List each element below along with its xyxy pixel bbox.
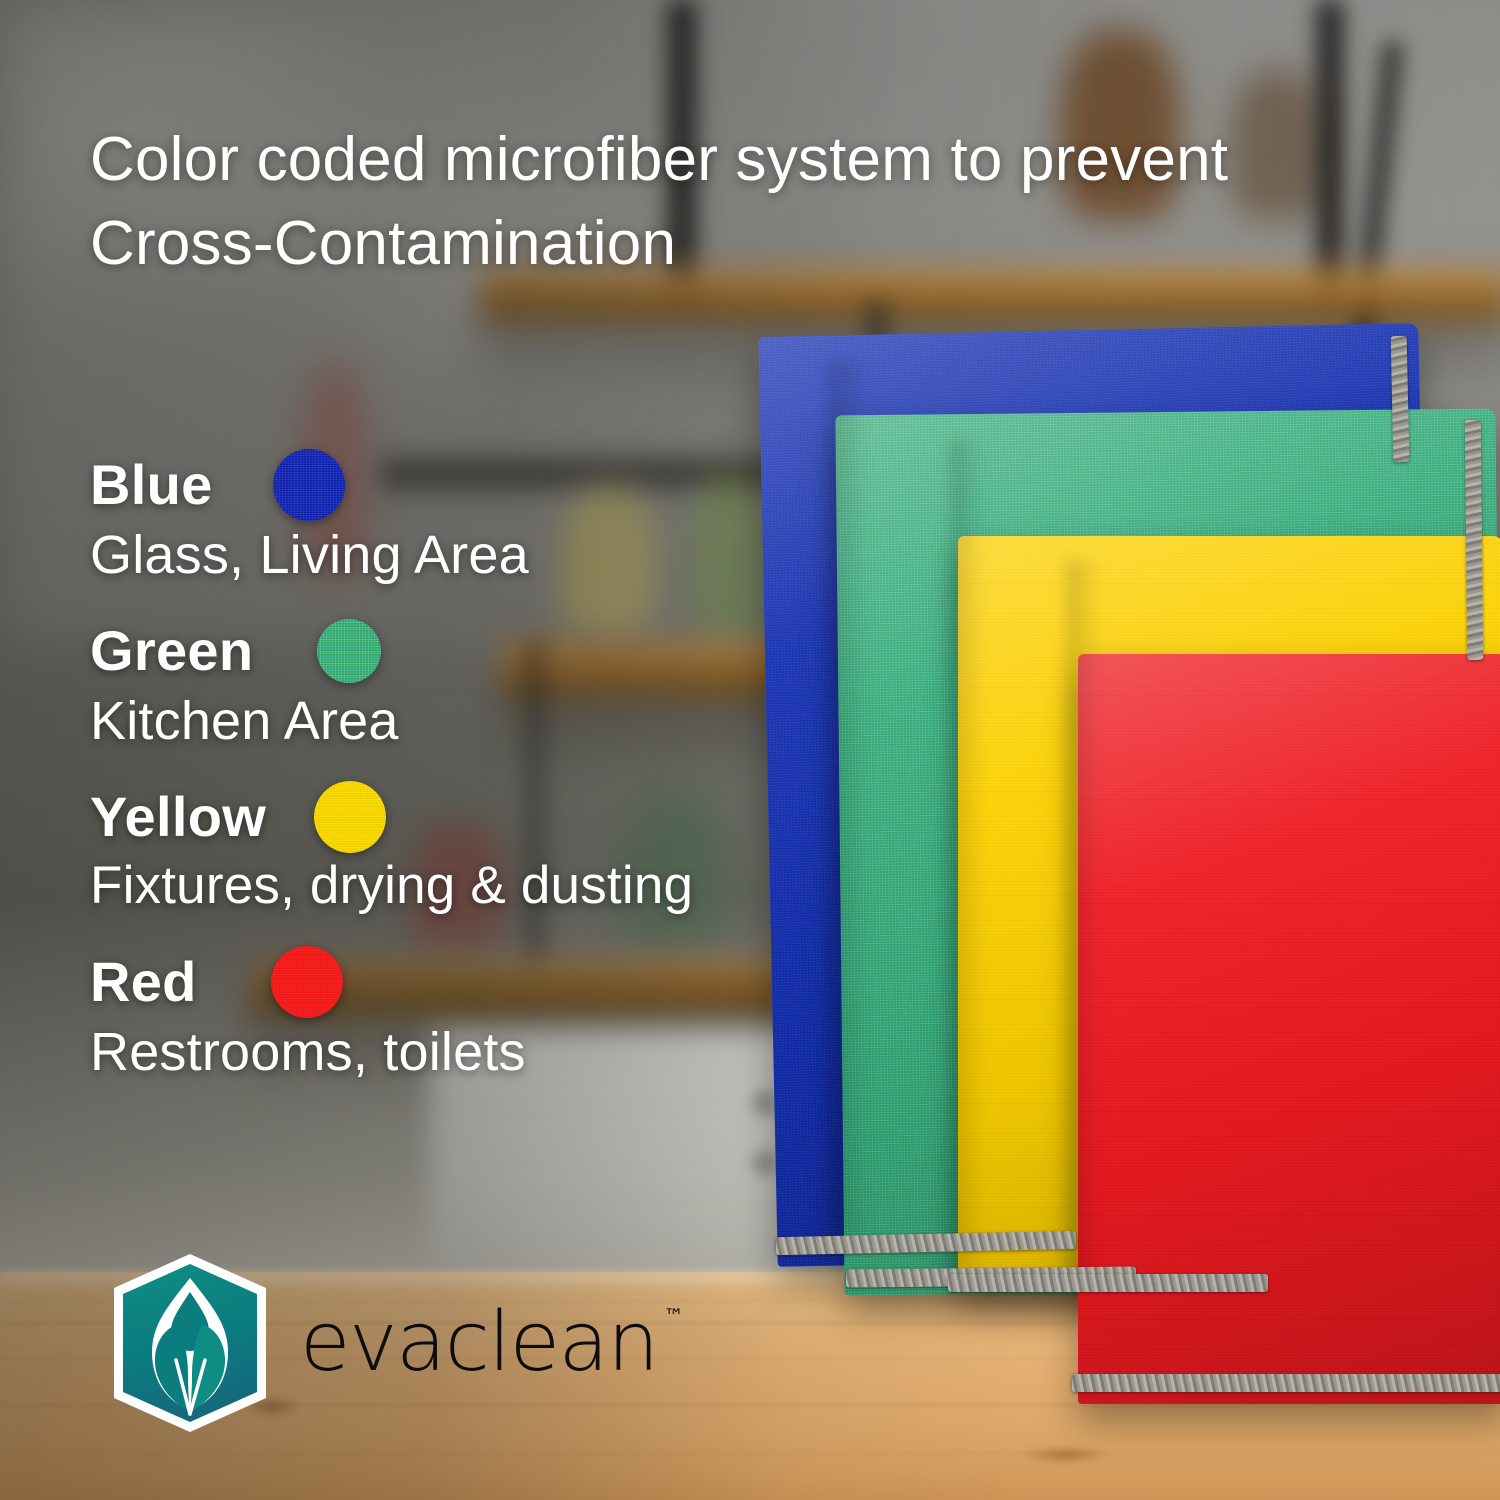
color-name-green: Green: [90, 623, 253, 679]
blue-color-swatch: [273, 449, 345, 521]
color-name-blue: Blue: [90, 457, 213, 513]
serged-edge: [1391, 336, 1410, 462]
legend-head-red: Red: [90, 949, 850, 1015]
evaclean-wordmark: evaclean ™: [300, 1302, 658, 1384]
green-color-swatch: [317, 619, 381, 683]
content-layer: Color coded microfiber system to prevent…: [0, 0, 1500, 1500]
serged-edge: [948, 1274, 1268, 1292]
legend-head-blue: Blue: [90, 452, 850, 518]
headline-line-2: Cross-Contamination: [90, 202, 1430, 286]
serged-edge: [1465, 420, 1484, 660]
color-description-red: Restrooms, toilets: [90, 1021, 850, 1083]
yellow-color-swatch: [314, 781, 386, 853]
color-description-green: Kitchen Area: [90, 690, 850, 752]
color-description-blue: Glass, Living Area: [90, 524, 850, 586]
headline: Color coded microfiber system to prevent…: [90, 118, 1430, 285]
evaclean-hexagon-leaf-icon: [106, 1252, 274, 1434]
headline-line-1: Color coded microfiber system to prevent: [90, 118, 1430, 202]
serged-edge: [1072, 1374, 1500, 1392]
legend-head-yellow: Yellow: [90, 784, 850, 850]
color-name-red: Red: [90, 954, 197, 1010]
legend-item-green: Green Kitchen Area: [90, 618, 850, 752]
legend-item-blue: Blue Glass, Living Area: [90, 452, 850, 586]
legend-head-green: Green: [90, 618, 850, 684]
red-color-swatch: [271, 946, 343, 1018]
trademark-symbol: ™: [664, 1306, 684, 1326]
wordmark-text: evaclean: [300, 1295, 658, 1390]
color-description-yellow: Fixtures, drying & dusting: [90, 856, 850, 917]
evaclean-logo: evaclean ™: [106, 1252, 658, 1434]
legend-item-yellow: Yellow Fixtures, drying & dusting: [90, 784, 850, 917]
color-code-legend: Blue Glass, Living Area Green Kitchen Ar…: [90, 452, 850, 1115]
color-name-yellow: Yellow: [90, 789, 266, 845]
legend-item-red: Red Restrooms, toilets: [90, 949, 850, 1083]
